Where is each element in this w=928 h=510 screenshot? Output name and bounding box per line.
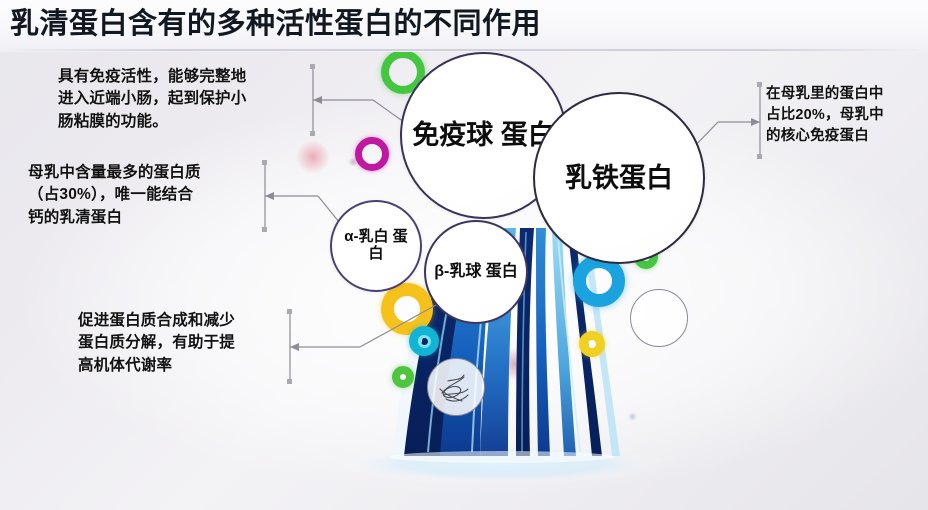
slide-canvas: 免疫球 蛋白 乳铁蛋白 α-乳白 蛋白 β-乳球 蛋白 具有免疫活性，能够完整地…	[0, 0, 928, 510]
title-bar: 乳清蛋白含有的多种活性蛋白的不同作用	[0, 0, 928, 52]
yellow-ring-trunk-icon	[579, 331, 605, 357]
bubble-beta-lactoglobulin-label: β-乳球 蛋白	[428, 263, 524, 281]
bubble-lactoferrin[interactable]: 乳铁蛋白	[533, 92, 705, 264]
callout-beta-lactoglobulin: 促进蛋白质合成和减少 蛋白质分解，有助于提 高机体代谢率	[78, 310, 308, 377]
callout-lactoferrin: 在母乳里的蛋白中 占比20%，母乳中 的核心免疫蛋白	[766, 84, 928, 147]
bubble-immunoglobulin-label: 免疫球 蛋白	[406, 120, 561, 150]
title-divider	[0, 49, 928, 51]
page-title: 乳清蛋白含有的多种活性蛋白的不同作用	[10, 6, 541, 42]
magenta-ring-icon	[355, 137, 389, 171]
green-ring-left-icon	[392, 366, 414, 388]
cyan-ring-left-inner-icon	[418, 335, 431, 348]
bubble-lactoferrin-label: 乳铁蛋白	[559, 163, 679, 193]
white-outline-circle	[630, 289, 688, 347]
bubble-alpha-lactalbumin-label: α-乳白 蛋白	[332, 229, 420, 263]
molecule-scribble-circle	[427, 358, 485, 416]
bubble-beta-lactoglobulin[interactable]: β-乳球 蛋白	[424, 220, 528, 324]
bubble-alpha-lactalbumin[interactable]: α-乳白 蛋白	[330, 200, 422, 292]
callout-immunoglobulin: 具有免疫活性，能够完整地 进入近端小肠，起到保护小 肠粘膜的功能。	[58, 66, 308, 133]
soft-pink-dot	[296, 140, 330, 174]
callout-alpha-lactalbumin: 母乳中含量最多的蛋白质 （占30%），唯一能结合 钙的乳清蛋白	[28, 162, 280, 229]
